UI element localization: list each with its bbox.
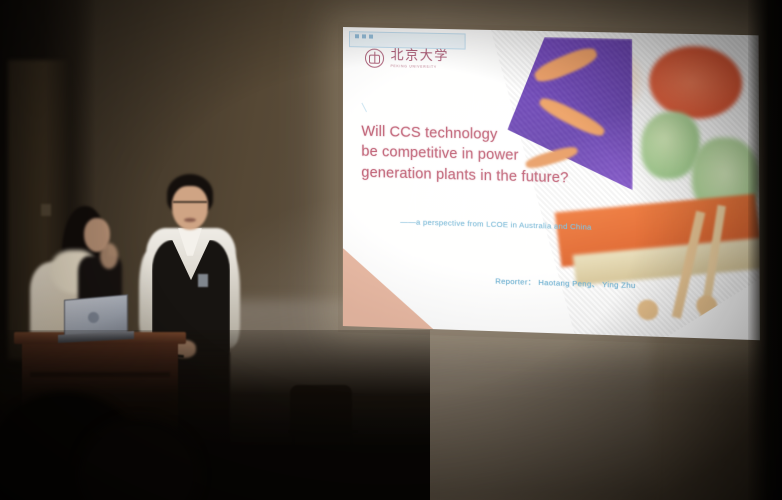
right-dark-band (748, 0, 782, 500)
laptop-logo-icon (88, 312, 99, 323)
slide-surface: 北京大学 PEKING UNIVERSITY Will CCS technolo… (343, 27, 760, 340)
slide-title: Will CCS technology be competitive in po… (361, 121, 568, 189)
wall-switch-icon (41, 204, 51, 216)
university-seal-icon (365, 48, 384, 67)
peking-university-logo: 北京大学 PEKING UNIVERSITY (365, 48, 448, 69)
window-chrome-artifact (349, 31, 466, 50)
projected-slide: 北京大学 PEKING UNIVERSITY Will CCS technolo… (343, 27, 760, 340)
slide-title-line-3: generation plants in the future? (361, 163, 568, 189)
slide-decorative-tick (362, 97, 378, 112)
presenter-glasses (173, 201, 207, 210)
photo-ball-a (637, 300, 658, 320)
logo-english-name: PEKING UNIVERSITY (391, 64, 449, 69)
seated-person-arm (100, 243, 118, 269)
presenter-badge (198, 274, 208, 287)
presenter-mouth (184, 218, 196, 222)
presentation-scene: 北京大学 PEKING UNIVERSITY Will CCS technolo… (0, 0, 782, 500)
window-chrome-dots (355, 34, 373, 38)
logo-chinese-name: 北京大学 (391, 49, 449, 63)
slide-corner-accent (343, 248, 433, 329)
